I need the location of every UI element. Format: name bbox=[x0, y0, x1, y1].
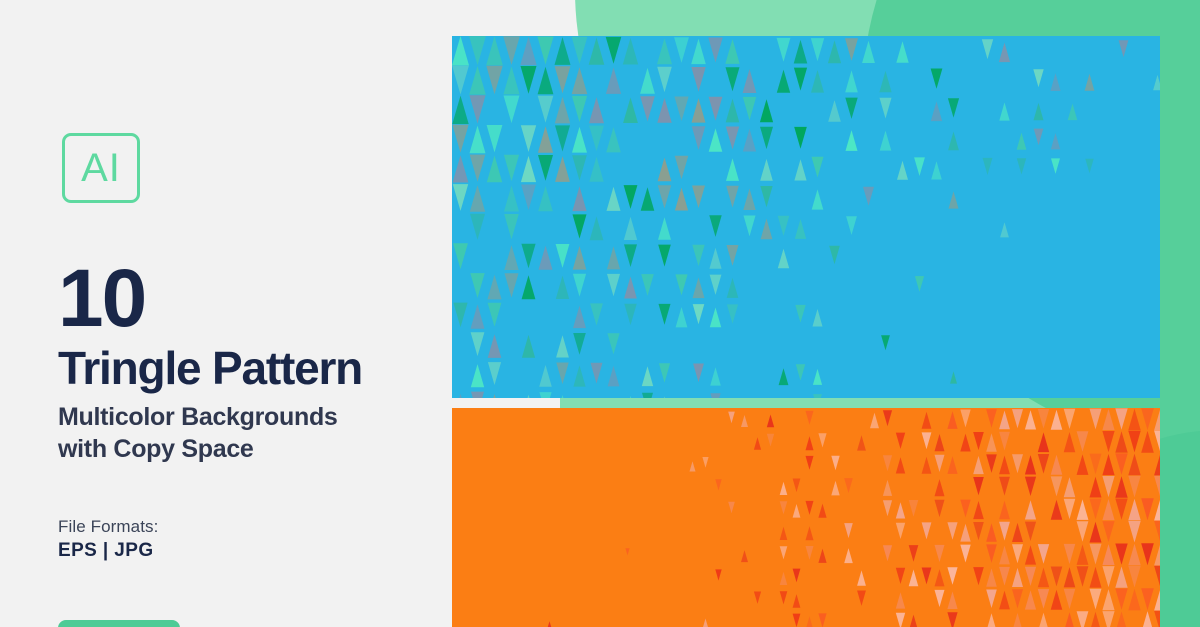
orange-triangle-pattern bbox=[452, 408, 1160, 627]
item-count: 10 bbox=[58, 262, 145, 336]
adobe-illustrator-badge-icon: AI bbox=[62, 133, 140, 203]
page-title: Tringle Pattern bbox=[58, 345, 362, 391]
cta-button[interactable] bbox=[58, 620, 180, 627]
badge-label: AI bbox=[81, 148, 121, 188]
poster-canvas: AI 10 Tringle Pattern Multicolor Backgro… bbox=[0, 0, 1200, 627]
subtitle-line-1: Multicolor Backgrounds bbox=[58, 401, 338, 433]
subtitle-line-2: with Copy Space bbox=[58, 433, 338, 465]
info-column: AI 10 Tringle Pattern Multicolor Backgro… bbox=[0, 0, 452, 627]
file-formats-label: File Formats: bbox=[58, 517, 158, 537]
file-formats-value: EPS | JPG bbox=[58, 540, 154, 562]
blue-triangle-banner-preview[interactable] bbox=[452, 36, 1160, 398]
blue-triangle-pattern bbox=[452, 36, 1160, 398]
page-subtitle: Multicolor Backgrounds with Copy Space bbox=[58, 401, 338, 465]
orange-triangle-banner-preview[interactable] bbox=[452, 408, 1160, 627]
